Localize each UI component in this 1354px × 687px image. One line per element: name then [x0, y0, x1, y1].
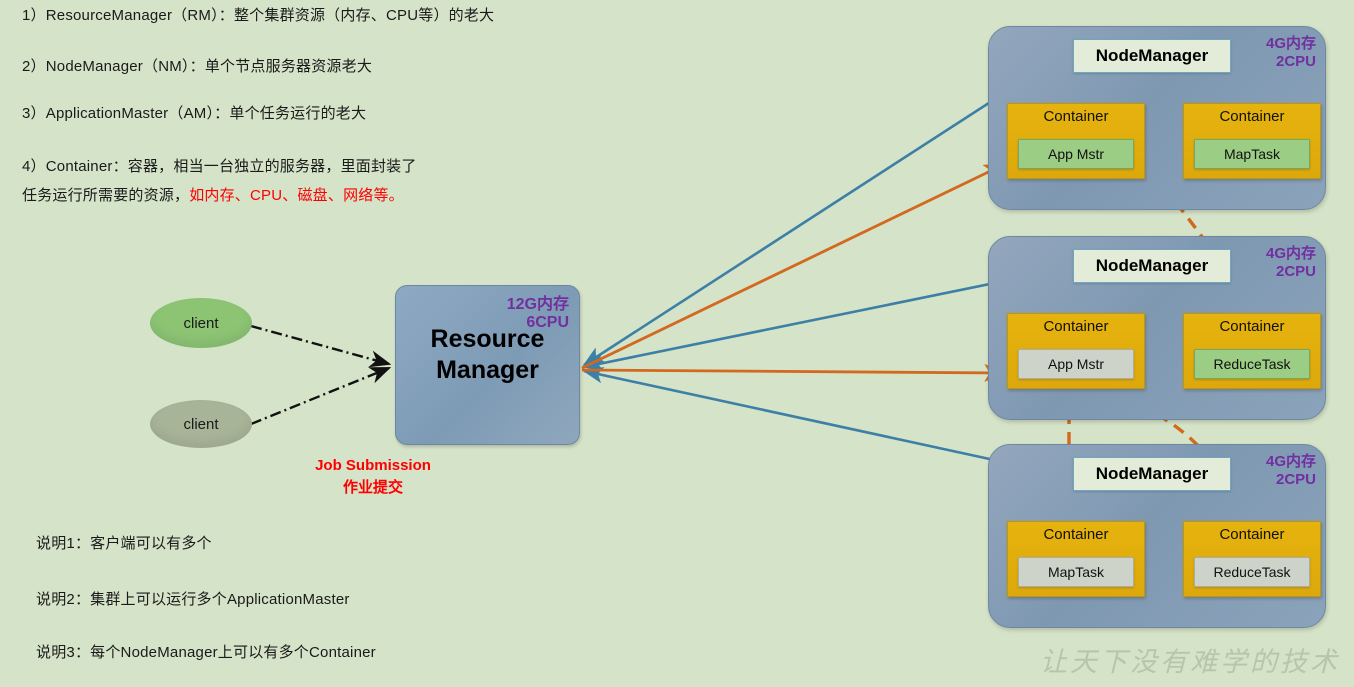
container-2-1-title: Container [1008, 318, 1144, 335]
rm-to-appmstr-arrows [582, 164, 1005, 373]
resource-manager-title-line2: Manager [396, 355, 579, 386]
container-2-2[interactable]: Container ReduceTask [1183, 313, 1321, 389]
explanation-line-3: 说明3：每个NodeManager上可以有多个Container [36, 643, 376, 663]
cluster-3-cpu: 2CPU [1266, 471, 1316, 489]
explanation-line-1: 说明1：客户端可以有多个 [36, 534, 212, 554]
cluster-2-spec: 4G内存 2CPU [1266, 245, 1316, 281]
resource-manager-box[interactable]: 12G内存 6CPU Resource Manager [395, 285, 580, 445]
task-map-1[interactable]: MapTask [1194, 139, 1310, 169]
note-line-2: 2）NodeManager（NM）：单个节点服务器资源老大 [22, 57, 372, 77]
cluster-2-memory: 4G内存 [1266, 245, 1316, 263]
node-manager-label-2[interactable]: NodeManager [1073, 249, 1231, 283]
resource-manager-title: Resource Manager [396, 324, 579, 386]
container-1-2-title: Container [1184, 108, 1320, 125]
watermark-text: 让天下没有难学的技术 [1040, 640, 1340, 679]
client-to-rm-arrows [251, 326, 389, 424]
node-manager-cluster-3[interactable]: NodeManager 4G内存 2CPU Container MapTask … [988, 444, 1326, 628]
client-node-1-label: client [183, 315, 218, 332]
container-1-1[interactable]: Container App Mstr [1007, 103, 1145, 179]
note-line-1: 1）ResourceManager（RM）：整个集群资源（内存、CPU等）的老大 [22, 6, 494, 26]
container-3-1-title: Container [1008, 526, 1144, 543]
node-manager-label-1[interactable]: NodeManager [1073, 39, 1231, 73]
node-manager-cluster-1[interactable]: NodeManager 4G内存 2CPU Container App Mstr… [988, 26, 1326, 210]
container-3-2[interactable]: Container ReduceTask [1183, 521, 1321, 597]
cluster-1-spec: 4G内存 2CPU [1266, 35, 1316, 71]
note-line-5-highlight: 如内存、CPU、磁盘、网络等。 [189, 187, 404, 204]
container-3-2-title: Container [1184, 526, 1320, 543]
task-map-3[interactable]: MapTask [1018, 557, 1134, 587]
job-submission-zh: 作业提交 [258, 477, 488, 499]
node-manager-label-3-text: NodeManager [1096, 464, 1208, 484]
container-1-1-title: Container [1008, 108, 1144, 125]
note-line-5-prefix: 任务运行所需要的资源， [22, 187, 189, 204]
container-1-2[interactable]: Container MapTask [1183, 103, 1321, 179]
node-manager-label-1-text: NodeManager [1096, 46, 1208, 66]
client-node-2-label: client [183, 416, 218, 433]
resource-manager-title-line1: Resource [396, 324, 579, 355]
cluster-3-memory: 4G内存 [1266, 453, 1316, 471]
client-node-1[interactable]: client [150, 298, 252, 348]
job-submission-en: Job Submission [258, 455, 488, 477]
cluster-2-cpu: 2CPU [1266, 263, 1316, 281]
task-app-mstr-2[interactable]: App Mstr [1018, 349, 1134, 379]
resource-manager-memory: 12G内存 [507, 296, 569, 314]
cluster-3-spec: 4G内存 2CPU [1266, 453, 1316, 489]
job-submission-label: Job Submission 作业提交 [258, 455, 488, 499]
cluster-1-cpu: 2CPU [1266, 53, 1316, 71]
node-manager-cluster-2[interactable]: NodeManager 4G内存 2CPU Container App Mstr… [988, 236, 1326, 420]
note-line-4: 4）Container：容器，相当一台独立的服务器，里面封装了 [22, 157, 417, 177]
node-manager-label-3[interactable]: NodeManager [1073, 457, 1231, 491]
container-2-2-title: Container [1184, 318, 1320, 335]
diagram-canvas: 1）ResourceManager（RM）：整个集群资源（内存、CPU等）的老大… [0, 0, 1354, 687]
task-app-mstr-1[interactable]: App Mstr [1018, 139, 1134, 169]
note-line-3: 3）ApplicationMaster（AM）：单个任务运行的老大 [22, 104, 366, 124]
task-reduce-2[interactable]: ReduceTask [1194, 349, 1310, 379]
explanation-line-2: 说明2：集群上可以运行多个ApplicationMaster [36, 590, 350, 610]
node-manager-label-2-text: NodeManager [1096, 256, 1208, 276]
cluster-1-memory: 4G内存 [1266, 35, 1316, 53]
client-node-2[interactable]: client [150, 400, 252, 448]
note-line-5: 任务运行所需要的资源，如内存、CPU、磁盘、网络等。 [22, 186, 404, 206]
container-2-1[interactable]: Container App Mstr [1007, 313, 1145, 389]
container-3-1[interactable]: Container MapTask [1007, 521, 1145, 597]
task-reduce-3[interactable]: ReduceTask [1194, 557, 1310, 587]
